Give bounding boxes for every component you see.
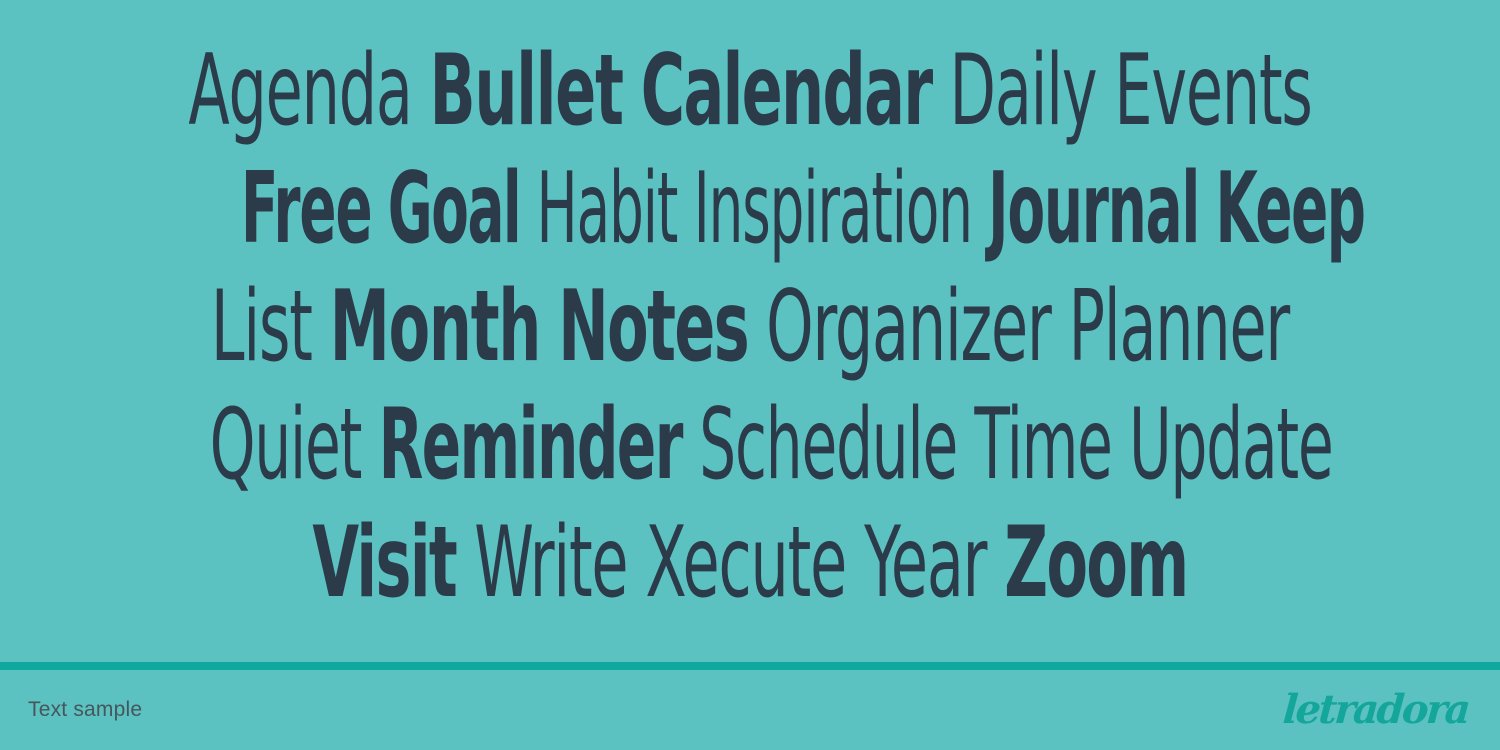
sample-word: Update [1129,388,1333,502]
sample-word: Calendar [641,34,932,148]
word-space [627,506,645,620]
word-space [1096,34,1114,148]
sample-word: Keep [1215,152,1364,266]
word-space [846,506,864,620]
sample-word: Habit [537,152,678,266]
sample-line-5: Visit Write Xecute Year Zoom [188,496,1311,631]
sample-word: Journal [988,152,1199,266]
footer-divider-rule [0,662,1500,670]
word-space [361,388,378,502]
sample-word: List [211,270,312,384]
sample-word: Organizer [766,270,1051,384]
word-space [957,388,974,502]
word-space [748,270,766,384]
sample-word: Free [241,152,371,266]
word-space [1199,152,1215,266]
sample-word: Daily [950,34,1097,148]
sample-word: Bullet [430,34,623,148]
sample-word: Write [474,506,627,620]
text-sample-block: Agenda Bullet Calendar Daily Events Free… [0,0,1500,662]
sample-line-3: List Month Notes Organizer Planner [188,260,1311,395]
text-sample-caption: Text sample [28,698,142,722]
word-space [371,152,387,266]
word-space [682,388,699,502]
word-space [623,34,641,148]
word-space [1112,388,1129,502]
sample-word: Month [330,270,540,384]
sample-word: Goal [388,152,520,266]
sample-word: Zoom [1004,506,1187,620]
footer-bar: Text sample letradora [0,670,1500,750]
word-space [312,270,330,384]
word-space [1051,270,1069,384]
word-space [986,506,1004,620]
letradora-brand-logo: letradora [1281,690,1473,730]
word-space [412,34,430,148]
word-space [972,152,988,266]
sample-word: Visit [312,506,456,620]
sample-word: Reminder [379,388,682,502]
sample-word: Quiet [210,388,361,502]
word-space [520,152,536,266]
sample-word: Xecute [645,506,846,620]
sample-line-1: Agenda Bullet Calendar Daily Events [188,24,1311,159]
sample-word: Schedule [699,388,957,502]
sample-word: Events [1114,34,1311,148]
word-space [456,506,474,620]
sample-line-2: Free Goal Habit Inspiration Journal Keep [241,142,1259,277]
word-space [540,270,558,384]
sample-word: Planner [1069,270,1289,384]
font-specimen-card: Agenda Bullet Calendar Daily Events Free… [0,0,1500,750]
word-space [677,152,693,266]
sample-word: Notes [558,270,748,384]
sample-line-4: Quiet Reminder Schedule Time Update [210,378,1290,513]
sample-word: Inspiration [694,152,972,266]
sample-word: Year [864,506,986,620]
sample-word: Time [974,388,1111,502]
word-space [932,34,950,148]
sample-word: Agenda [188,34,411,148]
